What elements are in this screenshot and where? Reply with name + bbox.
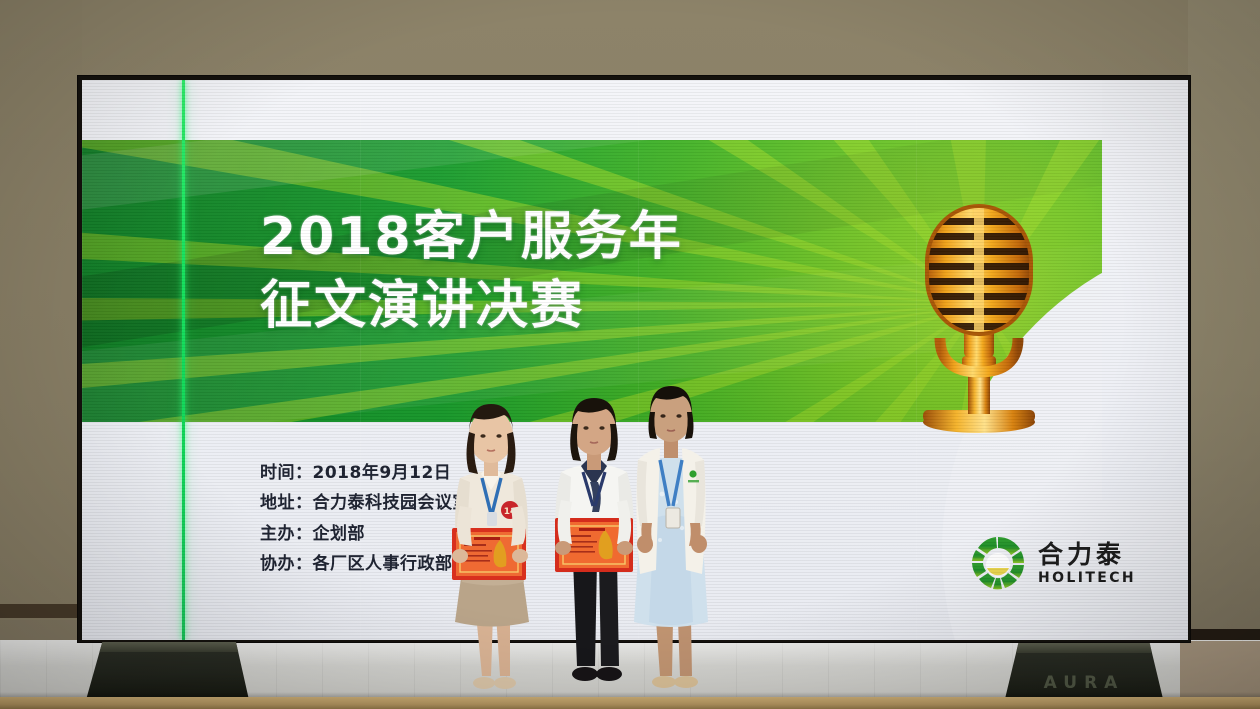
holitech-name-cn: 合力泰 [1038, 542, 1136, 567]
baseboard-left [0, 604, 84, 618]
slide-title-line-2: 征文演讲决赛 [260, 275, 683, 338]
wall-right-panel [1188, 0, 1260, 640]
wall-left-panel [0, 0, 82, 620]
stage-monitor-left-top [86, 642, 249, 652]
slide-title-line-1: 2018客户服务年 [260, 206, 683, 269]
slide-title: 2018客户服务年 征文演讲决赛 [260, 206, 683, 339]
holitech-logo: 合力泰 HOLITECH [970, 532, 1170, 594]
microphone-graphic [894, 188, 1064, 438]
photograph-scene: 2018客户服务年 征文演讲决赛 时间：2018年9月12日 地址：合力泰科技园… [0, 0, 1260, 709]
holitech-ring-icon [970, 535, 1026, 591]
holitech-wordmark: 合力泰 HOLITECH [1038, 542, 1136, 585]
person-right [612, 368, 730, 709]
led-panel-seam-line [182, 80, 185, 640]
green-shape-right-cut [1102, 80, 1188, 500]
speaker-brand-label: AURA [1004, 673, 1164, 693]
stage-monitor-right-top [1004, 643, 1164, 653]
person-left: 14 [430, 386, 550, 709]
stage-edge-trim [0, 697, 1260, 709]
holitech-name-en: HOLITECH [1038, 571, 1136, 585]
